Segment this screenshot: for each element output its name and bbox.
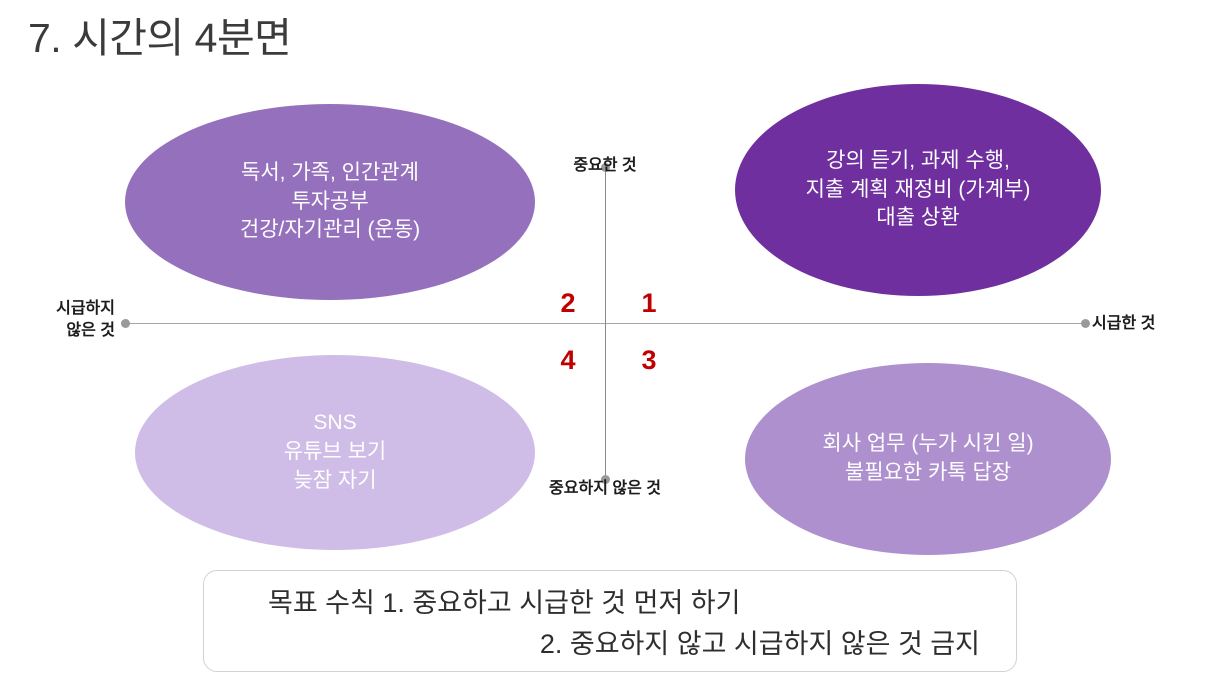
goal-rules-box: 목표 수칙 1. 중요하고 시급한 것 먼저 하기 2. 중요하지 않고 시급하… [203, 570, 1017, 672]
quadrant-number-two: 2 [553, 288, 583, 319]
quadrant-bubble-important-urgent: 강의 듣기, 과제 수행, 지출 계획 재정비 (가계부) 대출 상환 [735, 84, 1101, 296]
vertical-axis-line [605, 167, 606, 479]
page-title: 7. 시간의 4분면 [28, 14, 291, 63]
quadrant-number-four: 4 [553, 345, 583, 376]
axis-label-urgent: 시급한 것 [1092, 313, 1155, 335]
goal-rule-line-1: 목표 수칙 1. 중요하고 시급한 것 먼저 하기 [230, 583, 990, 624]
axis-endpoint-dot-left-icon [121, 319, 130, 328]
quadrant-bubble-not-important-not-urgent: SNS 유튜브 보기 늦잠 자기 [135, 355, 535, 550]
axis-label-not-urgent: 시급하지 않은 것 [0, 298, 115, 341]
quadrant-number-one: 1 [634, 288, 664, 319]
slide-canvas: 7. 시간의 4분면 독서, 가족, 인간관계 투자공부 건강/자기관리 (운동… [0, 0, 1216, 684]
goal-rule-line-2: 2. 중요하지 않고 시급하지 않은 것 금지 [230, 624, 990, 665]
axis-label-important: 중요한 것 [505, 155, 705, 177]
quadrant-number-three: 3 [634, 345, 664, 376]
axis-endpoint-dot-right-icon [1081, 319, 1090, 328]
quadrant-bubble-important-not-urgent: 독서, 가족, 인간관계 투자공부 건강/자기관리 (운동) [125, 104, 535, 300]
quadrant-bubble-not-important-urgent: 회사 업무 (누가 시킨 일) 불필요한 카톡 답장 [745, 363, 1111, 555]
axis-label-not-important: 중요하지 않은 것 [505, 478, 705, 500]
